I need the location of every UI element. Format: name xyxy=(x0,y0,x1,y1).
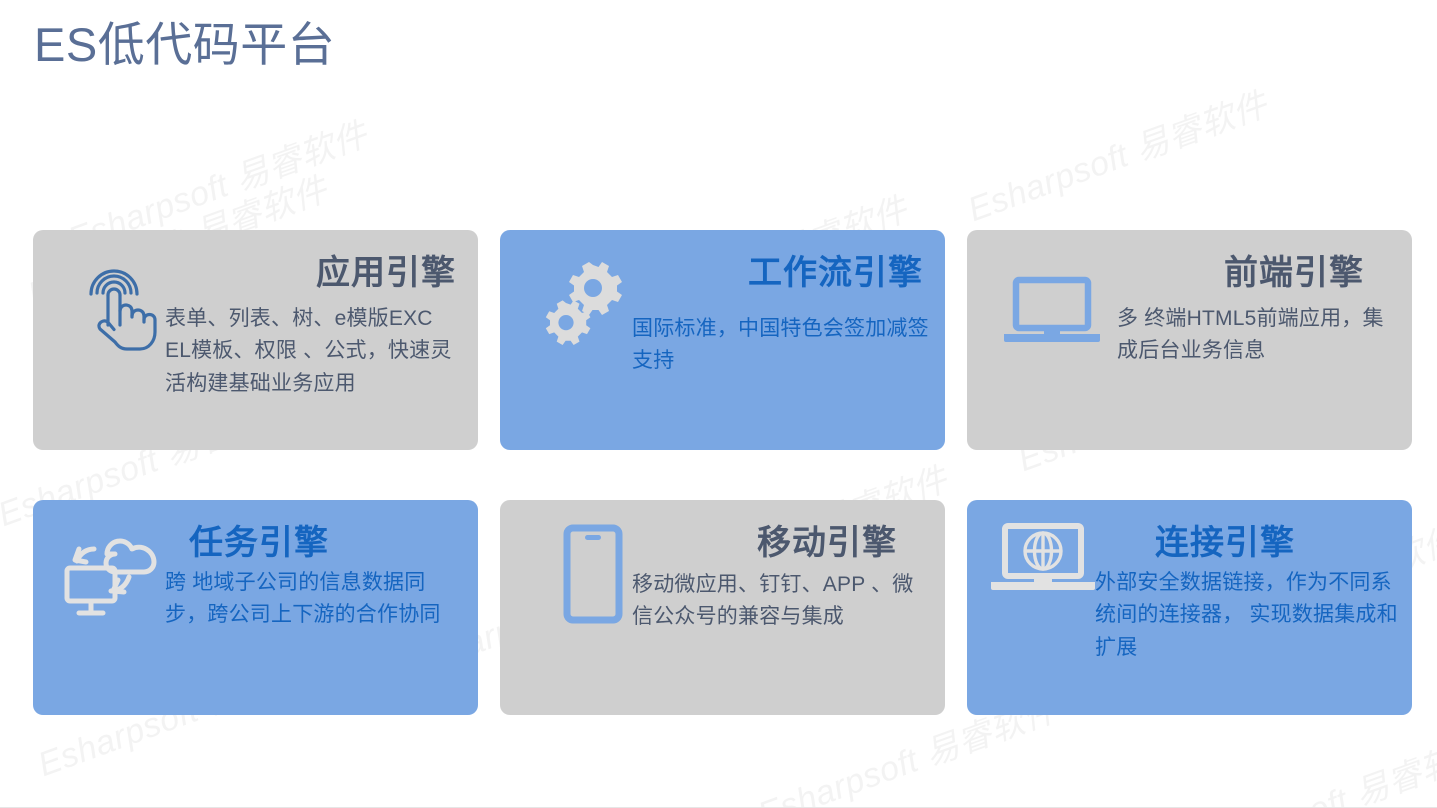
watermark-text: Esharpsoft 易睿软件 xyxy=(1180,722,1437,808)
card-description: 外部安全数据链接，作为不同系统间的连接器， 实现数据集成和扩展 xyxy=(1095,567,1398,665)
cloud-sync-icon xyxy=(55,518,171,622)
feature-card-task-engine[interactable]: 任务引擎 跨 地域子公司的信息数据同步，跨公司上下游的合作协同 xyxy=(33,500,478,715)
feature-card-frontend-engine[interactable]: 前端引擎 多 终端HTML5前端应用，集成后台业务信息 xyxy=(967,230,1412,450)
card-title: 前端引擎 xyxy=(1095,252,1398,295)
card-description: 多 终端HTML5前端应用，集成后台业务信息 xyxy=(1117,303,1398,368)
laptop-icon xyxy=(997,256,1107,366)
watermark-text: Esharpsoft 易睿软件 xyxy=(960,77,1273,231)
page-title: ES低代码平台 xyxy=(34,16,335,75)
tap-gesture-icon xyxy=(63,254,173,364)
feature-card-connect-engine[interactable]: 连接引擎 外部安全数据链接，作为不同系统间的连接器， 实现数据集成和扩展 xyxy=(967,500,1412,715)
card-description: 国际标准，中国特色会签加减签支持 xyxy=(632,313,931,378)
card-title: 应用引擎 xyxy=(161,252,464,295)
card-description: 表单、列表、树、e模版EXC EL模板、权限 、公式，快速灵 活构建基础业务应用 xyxy=(165,303,464,401)
slide-canvas: Esharpsoft 易睿软件 Esharpsoft 易睿软件 Esharpso… xyxy=(0,0,1437,808)
card-title: 任务引擎 xyxy=(161,522,464,565)
card-body: 连接引擎 外部安全数据链接，作为不同系统间的连接器， 实现数据集成和扩展 xyxy=(1095,522,1398,664)
feature-card-workflow-engine[interactable]: 工作流引擎 国际标准，中国特色会签加减签支持 xyxy=(500,230,945,450)
feature-card-grid: 应用引擎 表单、列表、树、e模版EXC EL模板、权限 、公式，快速灵 活构建基… xyxy=(33,230,1411,715)
card-title: 移动引擎 xyxy=(628,522,931,565)
laptop-globe-icon xyxy=(985,518,1101,604)
card-body: 任务引擎 跨 地域子公司的信息数据同步，跨公司上下游的合作协同 xyxy=(161,522,464,632)
card-body: 应用引擎 表单、列表、树、e模版EXC EL模板、权限 、公式，快速灵 活构建基… xyxy=(161,252,464,400)
card-description: 移动微应用、钉钉、APP 、微信公众号的兼容与集成 xyxy=(632,569,931,634)
card-title: 连接引擎 xyxy=(1095,522,1398,565)
card-body: 前端引擎 多 终端HTML5前端应用，集成后台业务信息 xyxy=(1095,252,1398,368)
feature-card-mobile-engine[interactable]: 移动引擎 移动微应用、钉钉、APP 、微信公众号的兼容与集成 xyxy=(500,500,945,715)
card-body: 工作流引擎 国际标准，中国特色会签加减签支持 xyxy=(628,252,931,378)
card-body: 移动引擎 移动微应用、钉钉、APP 、微信公众号的兼容与集成 xyxy=(628,522,931,634)
card-title: 工作流引擎 xyxy=(628,252,931,295)
gears-icon xyxy=(530,254,640,364)
card-description: 跨 地域子公司的信息数据同步，跨公司上下游的合作协同 xyxy=(165,567,464,632)
feature-card-app-engine[interactable]: 应用引擎 表单、列表、树、e模版EXC EL模板、权限 、公式，快速灵 活构建基… xyxy=(33,230,478,450)
